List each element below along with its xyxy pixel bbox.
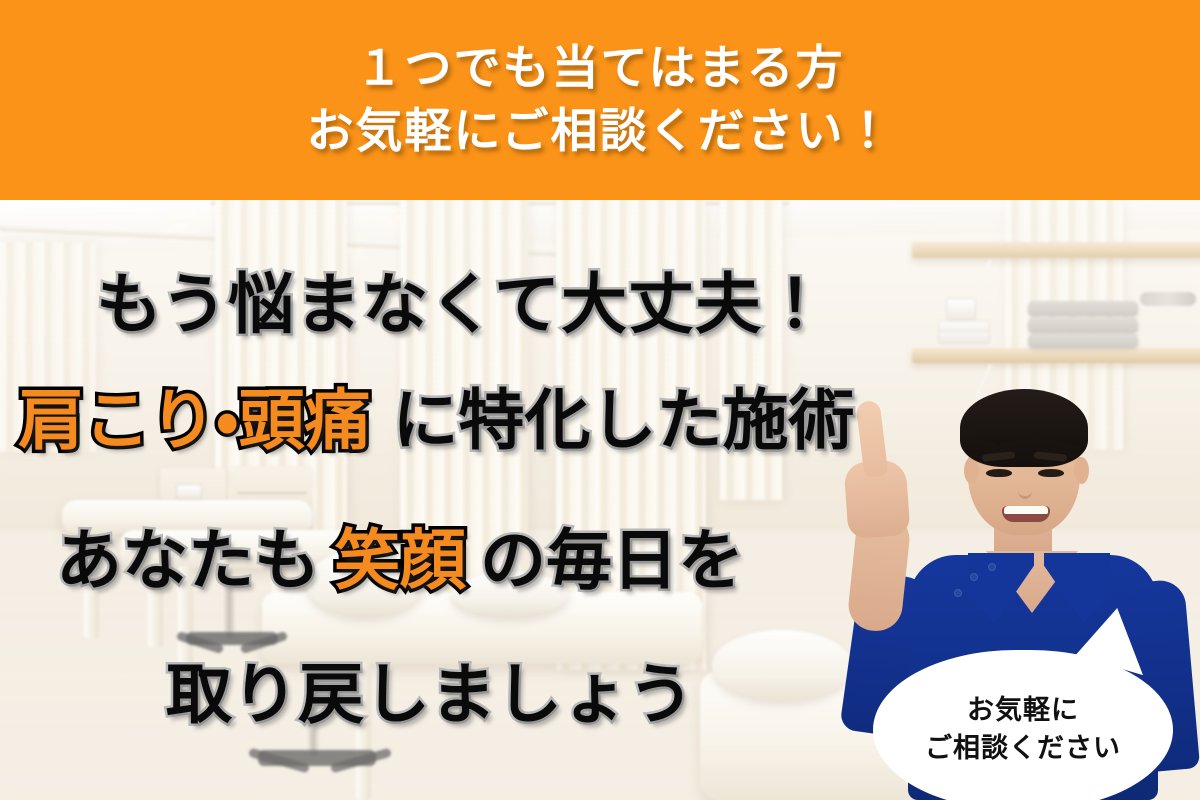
smiling-mouth (1002, 506, 1050, 522)
ear-right (1074, 457, 1089, 484)
ceiling-downlight (168, 220, 194, 231)
eye-left (986, 469, 1012, 477)
speech-bubble-line-1: お気軽に (967, 692, 1079, 730)
wall-shelf-lower (912, 348, 1200, 363)
teeth (1004, 506, 1048, 514)
face-rest-cushion (306, 550, 424, 616)
face-rest-cushion (712, 630, 852, 700)
speech-bubble: お気軽に ご相談ください (873, 630, 1173, 800)
face-rest-cushion (452, 572, 568, 616)
nose (1018, 483, 1032, 499)
shelf-device (946, 298, 976, 320)
privacy-curtain (400, 200, 528, 630)
rolled-towel (1140, 292, 1196, 306)
folded-towel (1028, 334, 1138, 348)
snap-button (988, 563, 996, 571)
table-leg (84, 532, 99, 638)
v-neck-collar-left (968, 553, 1034, 623)
shelf-basket (938, 320, 990, 332)
header-line-1: １つでも当てはまる方 (355, 41, 844, 96)
treatment-table (62, 500, 312, 534)
privacy-curtain (0, 242, 96, 452)
wall-shelf-upper (912, 242, 1200, 258)
table-leg (356, 662, 371, 800)
v-neck-collar-right (1044, 553, 1110, 623)
snap-button (970, 573, 978, 581)
speech-bubble-text: お気軽に ご相談ください (873, 650, 1173, 800)
stool-post (308, 670, 319, 756)
folded-towel (1028, 301, 1138, 316)
hair (960, 389, 1088, 467)
folded-towel (1028, 318, 1138, 333)
speech-bubble-line-2: ご相談ください (925, 730, 1121, 768)
privacy-curtain (720, 200, 782, 500)
header-line-2: お気軽にご相談ください！ (306, 104, 893, 159)
eye-right (1038, 469, 1064, 477)
header-banner: １つでも当てはまる方 お気軽にご相談ください！ (0, 0, 1200, 200)
table-leg (178, 566, 193, 692)
promo-banner: お気軽に ご相談ください もう悩まなくて大丈夫！ 肩こり・頭痛に特化した施術 あ… (0, 0, 1200, 800)
snap-button (954, 589, 962, 597)
equipment-display (176, 484, 202, 500)
stool-post (224, 568, 235, 638)
